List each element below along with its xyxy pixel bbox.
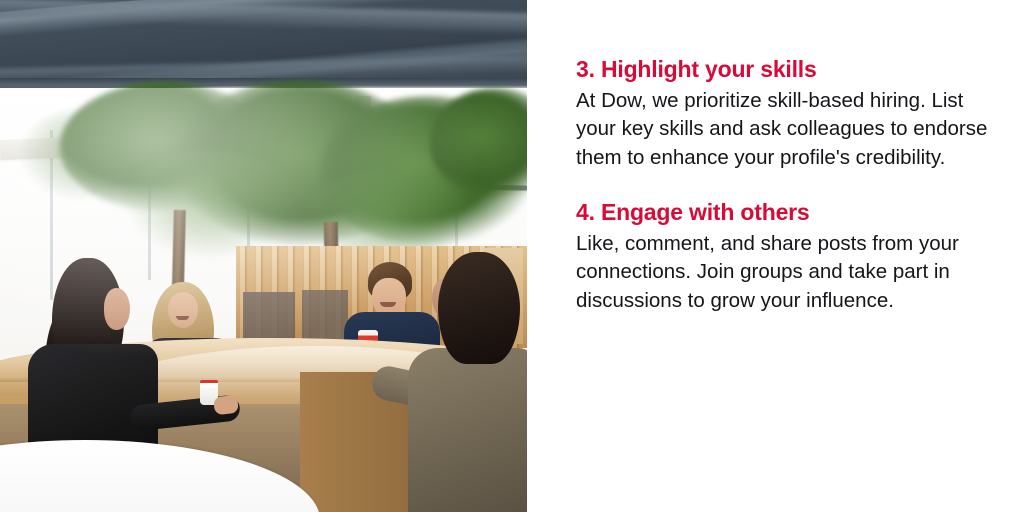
tip-body-4: Like, comment, and share posts from your… [576,230,1001,315]
tip-heading-4: 4. Engage with others [576,198,1001,226]
tips-list: 3. Highlight your skills At Dow, we prio… [576,55,1001,315]
photo-panel [0,0,527,512]
person-right-torso [408,348,527,512]
tree-canopy [120,150,300,260]
person-right-hair [438,252,520,364]
tip-heading-3: 3. Highlight your skills [576,55,1001,83]
slide-root: 3. Highlight your skills At Dow, we prio… [0,0,1023,512]
person-left-face [104,288,130,330]
tip-block-3: 3. Highlight your skills At Dow, we prio… [576,55,1001,172]
tip-body-3: At Dow, we prioritize skill-based hiring… [576,87,1001,172]
person-blonde-face [168,292,198,328]
person-man-smile [380,302,396,307]
person-blonde-smile [176,316,189,320]
tip-block-4: 4. Engage with others Like, comment, and… [576,198,1001,315]
content-panel: 3. Highlight your skills At Dow, we prio… [527,0,1023,512]
